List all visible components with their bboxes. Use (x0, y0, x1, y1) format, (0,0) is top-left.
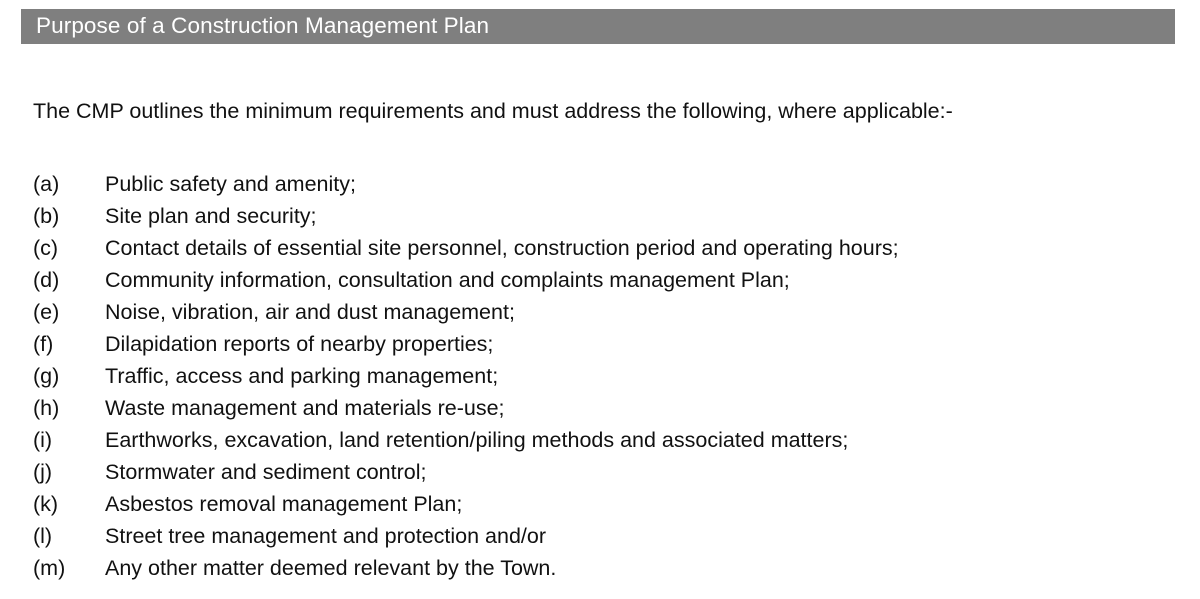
clause-text: Site plan and security; (105, 200, 1173, 232)
clause-label: (b) (33, 200, 105, 232)
list-item: (m) Any other matter deemed relevant by … (33, 552, 1173, 584)
list-item: (e) Noise, vibration, air and dust manag… (33, 296, 1173, 328)
list-item: (a) Public safety and amenity; (33, 168, 1173, 200)
clause-label: (m) (33, 552, 105, 584)
clause-label: (l) (33, 520, 105, 552)
clause-text: Dilapidation reports of nearby propertie… (105, 328, 1173, 360)
clause-text: Earthworks, excavation, land retention/p… (105, 424, 1173, 456)
list-item: (h) Waste management and materials re-us… (33, 392, 1173, 424)
list-item: (l) Street tree management and protectio… (33, 520, 1173, 552)
clause-label: (j) (33, 456, 105, 488)
clause-label: (a) (33, 168, 105, 200)
clause-label: (g) (33, 360, 105, 392)
clause-text: Stormwater and sediment control; (105, 456, 1173, 488)
list-item: (k) Asbestos removal management Plan; (33, 488, 1173, 520)
list-item: (f) Dilapidation reports of nearby prope… (33, 328, 1173, 360)
clause-text: Street tree management and protection an… (105, 520, 1173, 552)
clause-text: Asbestos removal management Plan; (105, 488, 1173, 520)
clause-label: (i) (33, 424, 105, 456)
clause-label: (e) (33, 296, 105, 328)
clause-label: (d) (33, 264, 105, 296)
clause-label: (h) (33, 392, 105, 424)
clause-label: (c) (33, 232, 105, 264)
clause-text: Contact details of essential site person… (105, 232, 1173, 264)
clause-text: Noise, vibration, air and dust managemen… (105, 296, 1173, 328)
clause-list: (a) Public safety and amenity; (b) Site … (33, 168, 1173, 584)
list-item: (d) Community information, consultation … (33, 264, 1173, 296)
section-heading-bar: Purpose of a Construction Management Pla… (21, 9, 1175, 44)
list-item: (i) Earthworks, excavation, land retenti… (33, 424, 1173, 456)
page-title: Purpose of a Construction Management Pla… (36, 15, 489, 38)
clause-label: (k) (33, 488, 105, 520)
list-item: (g) Traffic, access and parking manageme… (33, 360, 1173, 392)
list-item: (c) Contact details of essential site pe… (33, 232, 1173, 264)
clause-label: (f) (33, 328, 105, 360)
clause-text: Any other matter deemed relevant by the … (105, 552, 1173, 584)
clause-text: Traffic, access and parking management; (105, 360, 1173, 392)
clause-text: Waste management and materials re-use; (105, 392, 1173, 424)
list-item: (b) Site plan and security; (33, 200, 1173, 232)
clause-text: Community information, consultation and … (105, 264, 1173, 296)
document-page: Purpose of a Construction Management Pla… (0, 0, 1200, 599)
intro-paragraph: The CMP outlines the minimum requirement… (33, 96, 1170, 126)
clause-text: Public safety and amenity; (105, 168, 1173, 200)
list-item: (j) Stormwater and sediment control; (33, 456, 1173, 488)
